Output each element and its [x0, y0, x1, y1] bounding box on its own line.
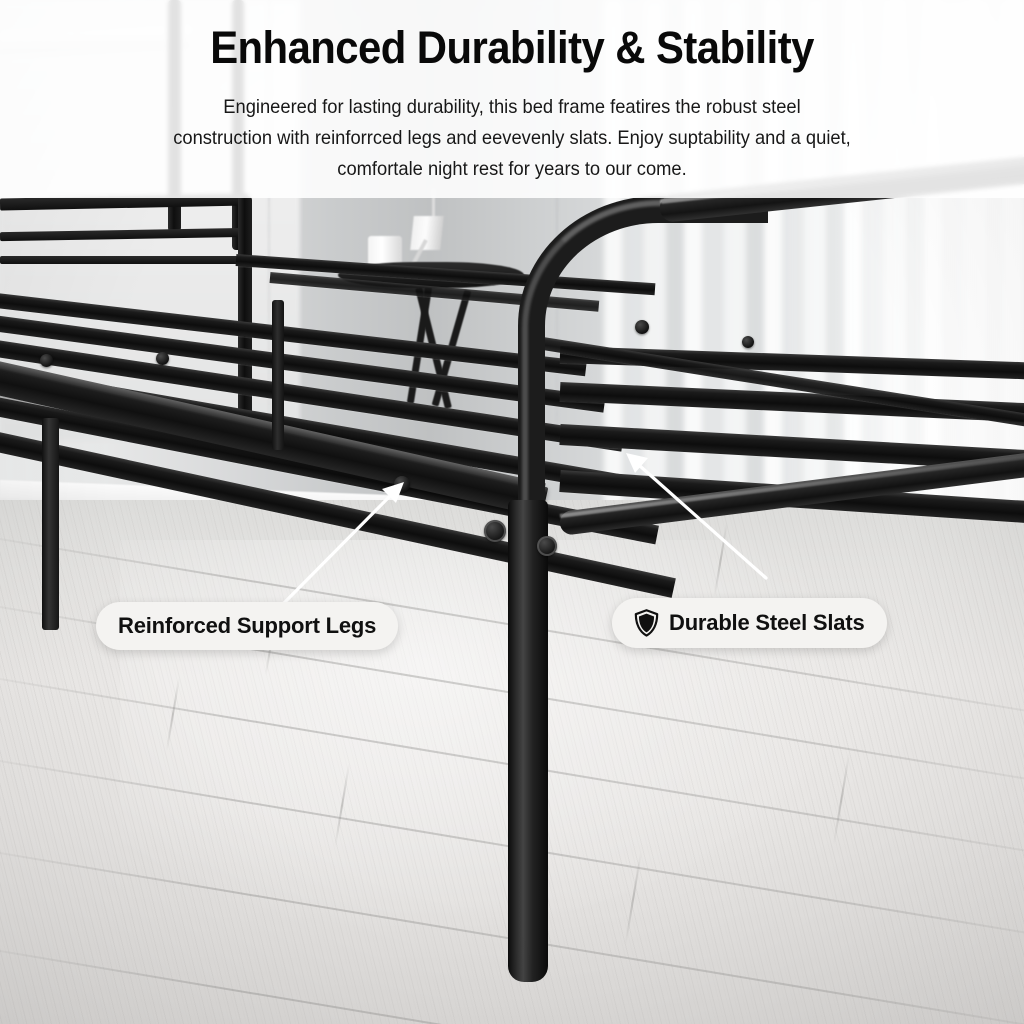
bolt [742, 336, 754, 348]
description-line-1: Engineered for lasting durability, this … [112, 92, 913, 123]
shield-icon [634, 609, 659, 637]
table-lamp-shade [410, 216, 444, 250]
header-band: Enhanced Durability & Stability Engineer… [0, 0, 1024, 198]
bolt [484, 520, 506, 542]
support-leg-back [42, 418, 59, 630]
bolt [40, 354, 53, 367]
callout-reinforced-support-legs[interactable]: Reinforced Support Legs [96, 602, 398, 650]
description-text: Engineered for lasting durability, this … [112, 92, 913, 185]
support-leg-far [272, 300, 284, 450]
callout-durable-steel-slats[interactable]: Durable Steel Slats [612, 598, 887, 648]
infographic-root: Enhanced Durability & Stability Engineer… [0, 0, 1024, 1024]
bolt [156, 352, 169, 365]
bolt [394, 476, 410, 492]
description-line-2: construction with reinforrced legs and e… [112, 123, 913, 154]
callout-label: Durable Steel Slats [669, 610, 865, 636]
description-line-3: comfortale night rest for years to our c… [112, 154, 913, 185]
page-title: Enhanced Durability & Stability [36, 22, 988, 74]
support-leg-front [508, 500, 548, 982]
bolt [635, 320, 649, 334]
bolt [537, 536, 557, 556]
callout-label: Reinforced Support Legs [118, 613, 376, 639]
headboard-rail [0, 256, 252, 264]
